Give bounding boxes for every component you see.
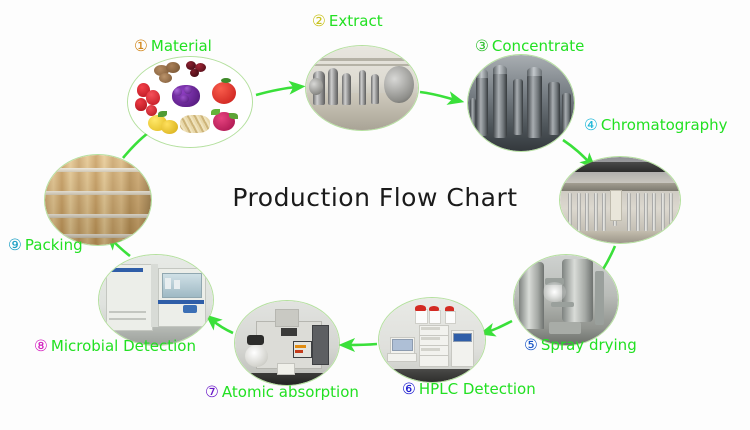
step-number-7: ⑦ bbox=[205, 385, 219, 401]
chromatography-photo bbox=[560, 157, 680, 243]
label-hplc-detection: ⑥HPLC Detection bbox=[402, 382, 536, 398]
label-spray-drying: ⑤Spray drying bbox=[524, 338, 637, 354]
label-extract: ②Extract bbox=[312, 14, 383, 30]
step-number-9: ⑨ bbox=[8, 238, 22, 254]
step-label-3: Concentrate bbox=[492, 39, 585, 54]
node-microbial-detection[interactable] bbox=[99, 255, 213, 345]
step-label-1: Material bbox=[151, 39, 212, 54]
step-label-8: Microbial Detection bbox=[51, 339, 196, 354]
step-number-5: ⑤ bbox=[524, 338, 538, 354]
extract-photo bbox=[306, 46, 418, 130]
node-extract[interactable] bbox=[306, 46, 418, 130]
node-concentrate[interactable] bbox=[468, 55, 574, 151]
node-chromatography[interactable] bbox=[560, 157, 680, 243]
packing-photo bbox=[45, 155, 151, 245]
spray-drying-photo bbox=[514, 255, 618, 345]
node-material[interactable] bbox=[128, 57, 252, 147]
arrow-5-to-6 bbox=[487, 321, 512, 332]
node-atomic-absorption[interactable] bbox=[235, 301, 339, 385]
hplc-photo bbox=[379, 298, 485, 382]
step-number-8: ⑧ bbox=[34, 339, 48, 355]
material-photo bbox=[128, 57, 252, 147]
step-number-3: ③ bbox=[475, 39, 489, 55]
label-chromatography: ④Chromatography bbox=[584, 118, 728, 134]
production-flow-chart: Production Flow Chart bbox=[0, 0, 750, 430]
node-hplc-detection[interactable] bbox=[379, 298, 485, 382]
label-atomic-absorption: ⑦Atomic absorption bbox=[205, 385, 359, 401]
arrow-7-to-8 bbox=[212, 320, 233, 333]
step-label-6: HPLC Detection bbox=[419, 382, 536, 397]
atomic-absorption-photo bbox=[235, 301, 339, 385]
concentrate-photo bbox=[468, 55, 574, 151]
label-material: ①Material bbox=[134, 39, 212, 55]
step-label-4: Chromatography bbox=[601, 118, 728, 133]
step-label-2: Extract bbox=[329, 14, 383, 29]
step-number-6: ⑥ bbox=[402, 382, 416, 398]
label-concentrate: ③Concentrate bbox=[475, 39, 584, 55]
microbial-photo bbox=[99, 255, 213, 345]
node-spray-drying[interactable] bbox=[514, 255, 618, 345]
label-microbial-detection: ⑧Microbial Detection bbox=[34, 339, 196, 355]
step-label-9: Packing bbox=[25, 238, 83, 253]
step-number-2: ② bbox=[312, 14, 326, 30]
step-label-7: Atomic absorption bbox=[222, 385, 359, 400]
step-number-4: ④ bbox=[584, 118, 598, 134]
label-packing: ⑨Packing bbox=[8, 238, 83, 254]
node-packing[interactable] bbox=[45, 155, 151, 245]
step-number-1: ① bbox=[134, 39, 148, 55]
step-label-5: Spray drying bbox=[541, 338, 637, 353]
arrow-6-to-7 bbox=[347, 344, 377, 345]
arrow-1-to-2 bbox=[256, 87, 297, 95]
arrow-2-to-3 bbox=[420, 92, 456, 100]
